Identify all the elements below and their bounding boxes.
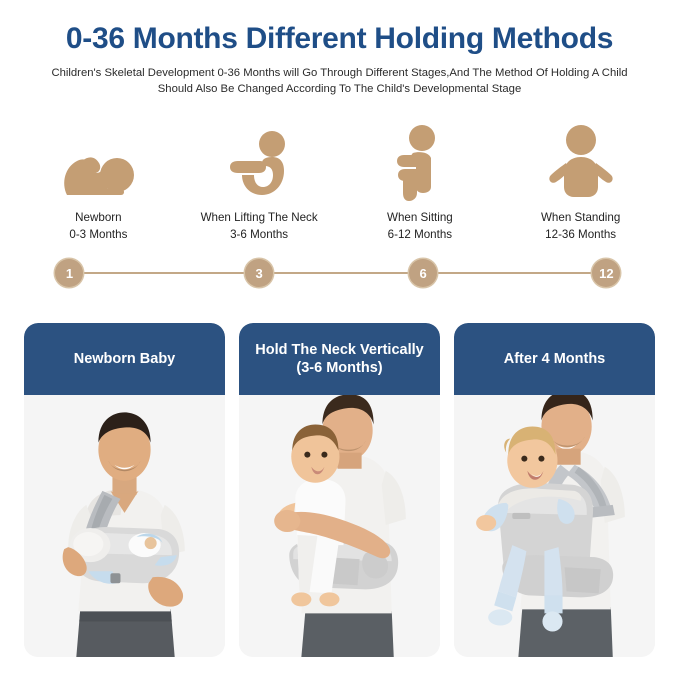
stage-label-sitting: When Sitting 6-12 Months <box>387 210 453 243</box>
stage-name: When Standing <box>541 211 620 224</box>
stage-standing: When Standing 12-36 Months <box>500 123 661 243</box>
timeline-node-12[interactable]: 12 <box>592 259 620 287</box>
stage-age: 0-3 Months <box>69 227 127 243</box>
card-title-newborn-baby: Newborn Baby <box>24 323 225 395</box>
stage-name: Newborn <box>75 211 121 224</box>
standing-baby-icon <box>542 123 620 201</box>
stage-name: When Sitting <box>387 211 453 224</box>
stage-age: 3-6 Months <box>201 227 318 243</box>
card-after-4-months[interactable]: After 4 Months <box>454 323 655 657</box>
newborn-lying-icon <box>55 123 141 201</box>
card-title-hold-neck-vertically: Hold The Neck Vertically (3-6 Months) <box>239 323 440 395</box>
timeline-track <box>84 272 595 274</box>
lifting-neck-icon <box>216 123 302 201</box>
stage-age: 6-12 Months <box>387 227 453 243</box>
card-photo-hold-neck-vertically <box>239 395 440 657</box>
stage-sitting: When Sitting 6-12 Months <box>340 123 501 243</box>
development-stages-row: Newborn 0-3 Months When Lifting The Neck… <box>0 123 679 243</box>
stage-name: When Lifting The Neck <box>201 211 318 224</box>
stage-label-standing: When Standing 12-36 Months <box>541 210 620 243</box>
card-title-after-4-months: After 4 Months <box>454 323 655 395</box>
stage-label-lifting-neck: When Lifting The Neck 3-6 Months <box>201 210 318 243</box>
stage-age: 12-36 Months <box>541 227 620 243</box>
stage-label-newborn: Newborn 0-3 Months <box>69 210 127 243</box>
stage-newborn: Newborn 0-3 Months <box>18 123 179 243</box>
timeline-node-1[interactable]: 1 <box>55 259 83 287</box>
card-photo-after-4-months <box>454 395 655 657</box>
card-photo-newborn-baby <box>24 395 225 657</box>
sitting-baby-icon <box>385 123 455 201</box>
holding-method-cards: Newborn Baby <box>0 293 679 657</box>
infographic-header: 0-36 Months Different Holding Methods Ch… <box>0 0 679 97</box>
page-title: 0-36 Months Different Holding Methods <box>24 22 655 56</box>
card-newborn-baby[interactable]: Newborn Baby <box>24 323 225 657</box>
age-timeline: 1 3 6 12 <box>18 253 661 293</box>
page-subtitle: Children's Skeletal Development 0-36 Mon… <box>40 65 640 98</box>
timeline-node-3[interactable]: 3 <box>245 259 273 287</box>
stage-lifting-neck: When Lifting The Neck 3-6 Months <box>179 123 340 243</box>
card-hold-neck-vertically[interactable]: Hold The Neck Vertically (3-6 Months) <box>239 323 440 657</box>
timeline-node-6[interactable]: 6 <box>409 259 437 287</box>
